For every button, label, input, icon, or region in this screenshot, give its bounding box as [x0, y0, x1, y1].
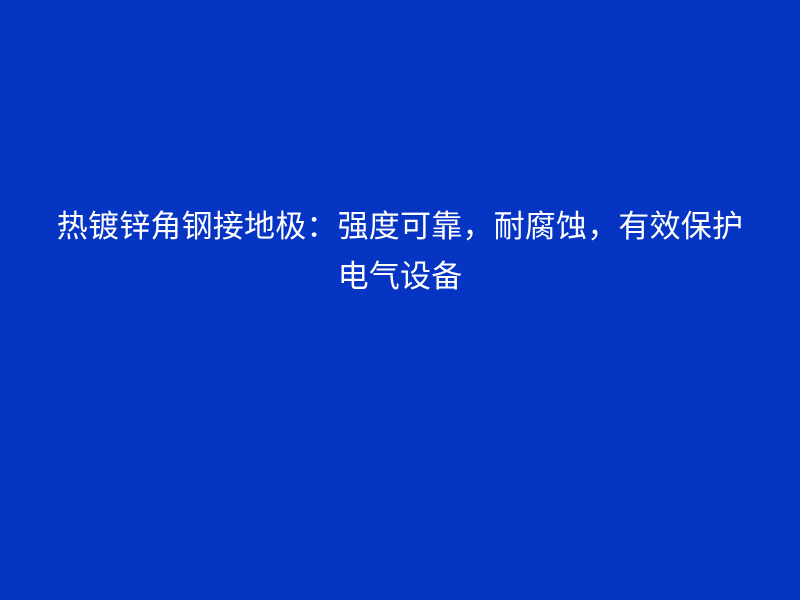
headline-container: 热镀锌角钢接地极：强度可靠，耐腐蚀，有效保护电气设备 [0, 0, 800, 600]
title-banner: 热镀锌角钢接地极：强度可靠，耐腐蚀，有效保护电气设备 [0, 0, 800, 600]
page-title: 热镀锌角钢接地极：强度可靠，耐腐蚀，有效保护电气设备 [50, 202, 750, 302]
